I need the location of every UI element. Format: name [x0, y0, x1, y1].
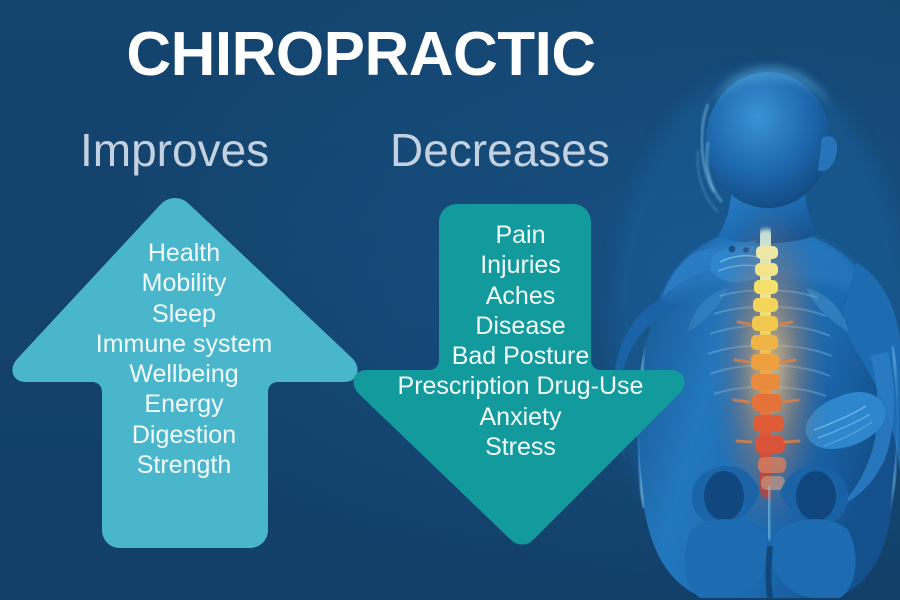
- list-item: Health: [16, 238, 352, 268]
- column-heading-decreases: Decreases: [390, 127, 610, 173]
- list-item: Digestion: [16, 420, 352, 450]
- list-item: Bad Posture: [348, 341, 693, 371]
- list-item: Aches: [348, 281, 693, 311]
- list-item: Immune system: [16, 329, 352, 359]
- list-item: Pain: [348, 220, 693, 250]
- column-heading-improves: Improves: [80, 127, 269, 173]
- page-title: CHIROPRACTIC: [0, 24, 722, 86]
- list-item: Strength: [16, 450, 352, 480]
- improves-list: Health Mobility Sleep Immune system Well…: [16, 238, 352, 480]
- list-item: Injuries: [348, 250, 693, 280]
- list-item: Stress: [348, 432, 693, 462]
- infographic-poster: CHIROPRACTIC Improves Decreases Health M…: [0, 0, 900, 600]
- list-item: Energy: [16, 389, 352, 419]
- decreases-list: Pain Injuries Aches Disease Bad Posture …: [348, 220, 693, 462]
- list-item: Sleep: [16, 299, 352, 329]
- list-item: Wellbeing: [16, 359, 352, 389]
- list-item: Mobility: [16, 268, 352, 298]
- list-item: Prescription Drug-Use: [348, 371, 693, 401]
- list-item: Anxiety: [348, 402, 693, 432]
- list-item: Disease: [348, 311, 693, 341]
